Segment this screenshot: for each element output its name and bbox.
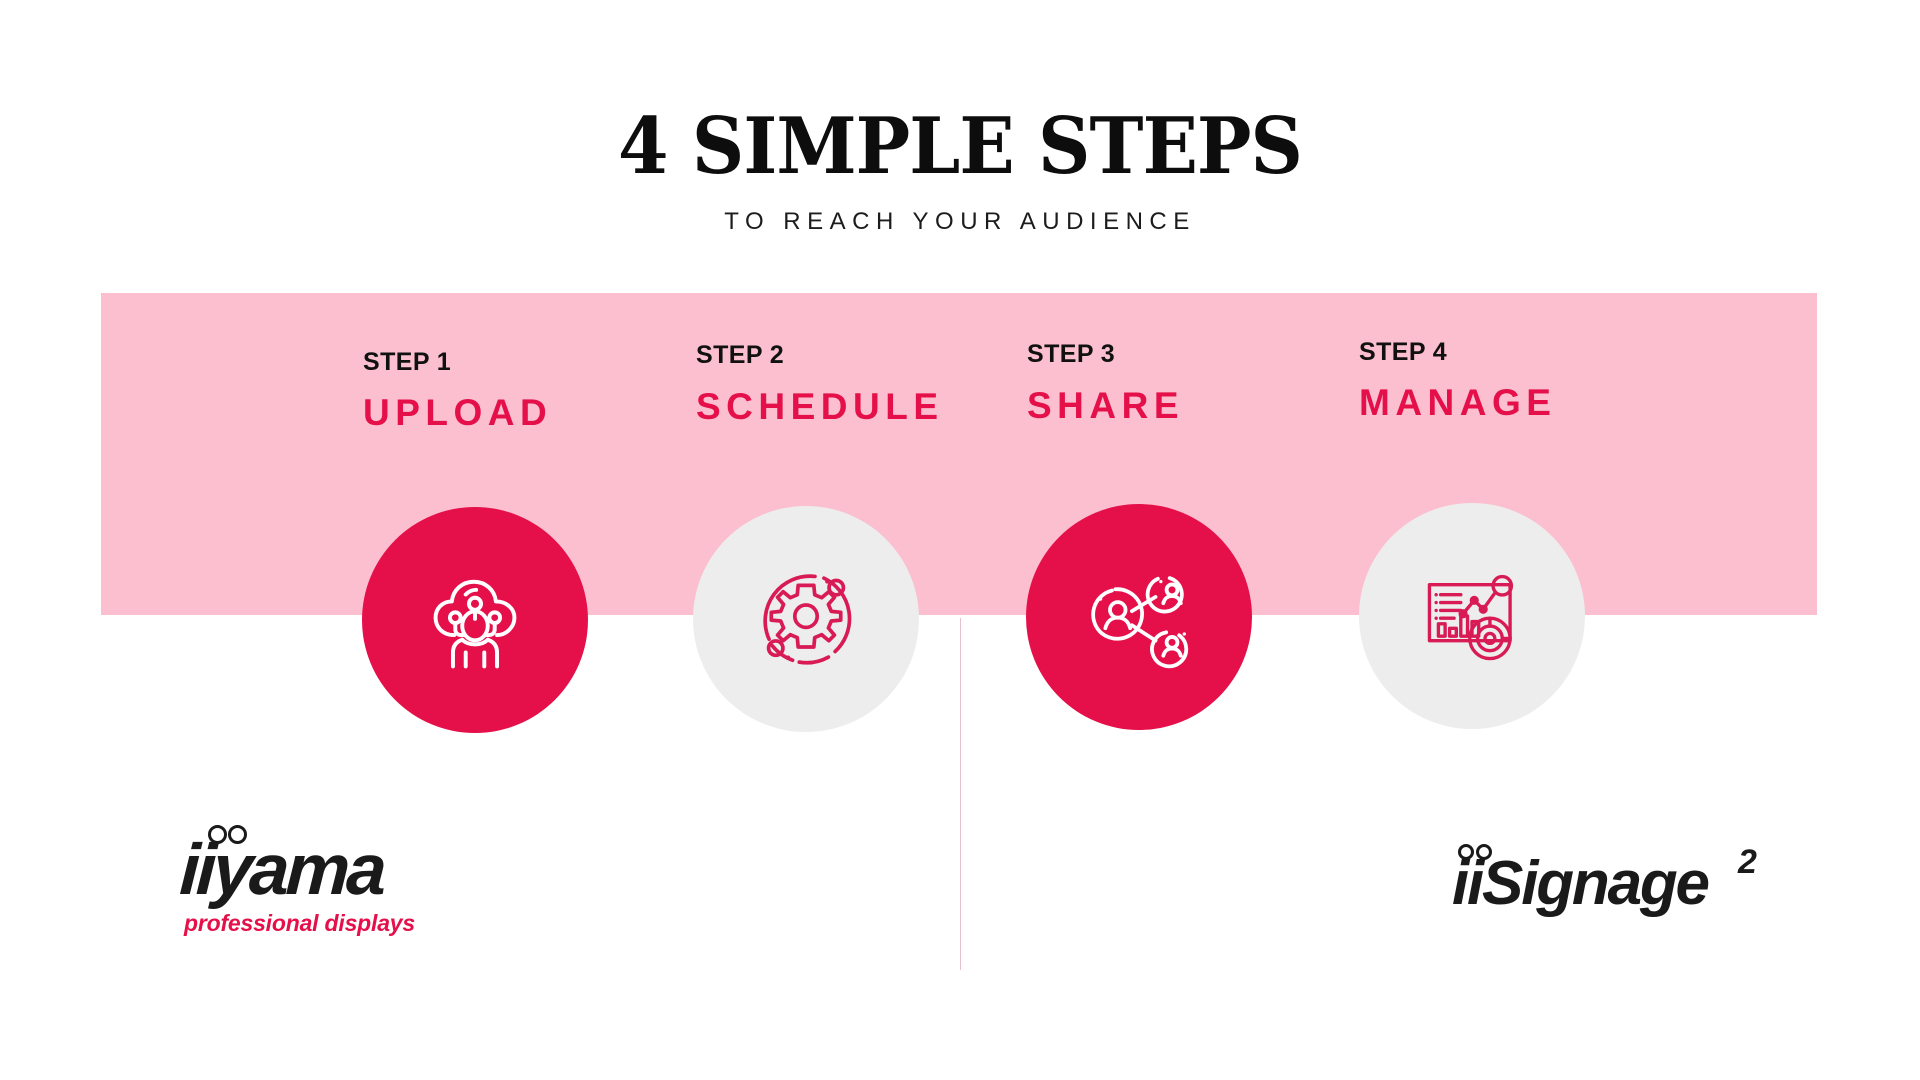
iisignage-wordmark: iiSignage	[1452, 853, 1708, 915]
iisignage-logo: iiSignage 2	[1452, 845, 1772, 935]
step-number-label: STEP 3	[1027, 340, 1115, 369]
step-card-manage[interactable]: STEP 4 MANAGE	[1359, 293, 1779, 793]
iiyama-tagline: professional displays	[184, 912, 415, 935]
step-icon-circle-share[interactable]	[1026, 504, 1252, 730]
iiyama-logo: iiyama professional displays	[180, 828, 440, 938]
users-network-share-icon	[1080, 558, 1198, 676]
step-icon-circle-manage[interactable]	[1359, 503, 1585, 729]
step-number-label: STEP 2	[696, 341, 784, 370]
step-title-upload: UPLOAD	[363, 392, 552, 434]
vertical-divider	[960, 618, 961, 970]
step-number-label: STEP 1	[363, 348, 451, 377]
page-title: 4 SIMPLE STEPS	[67, 108, 1853, 186]
step-title-manage: MANAGE	[1359, 382, 1556, 424]
iisignage-superscript: 2	[1738, 845, 1757, 879]
step-title-share: SHARE	[1027, 385, 1184, 427]
analytics-dashboard-icon	[1416, 560, 1528, 672]
step-title-schedule: SCHEDULE	[696, 386, 944, 428]
steps-row: STEP 1 UPLOAD	[101, 293, 1817, 793]
iiyama-wordmark: iiyama	[178, 834, 385, 906]
gear-orbit-settings-icon	[750, 563, 862, 675]
step-icon-circle-schedule[interactable]	[693, 506, 919, 732]
page-subtitle: TO REACH YOUR AUDIENCE	[0, 208, 1920, 236]
step-icon-circle-upload[interactable]	[362, 507, 588, 733]
cloud-user-upload-icon	[417, 562, 533, 678]
slide-canvas: 4 SIMPLE STEPS TO REACH YOUR AUDIENCE ST…	[0, 0, 1920, 1080]
step-number-label: STEP 4	[1359, 338, 1447, 367]
